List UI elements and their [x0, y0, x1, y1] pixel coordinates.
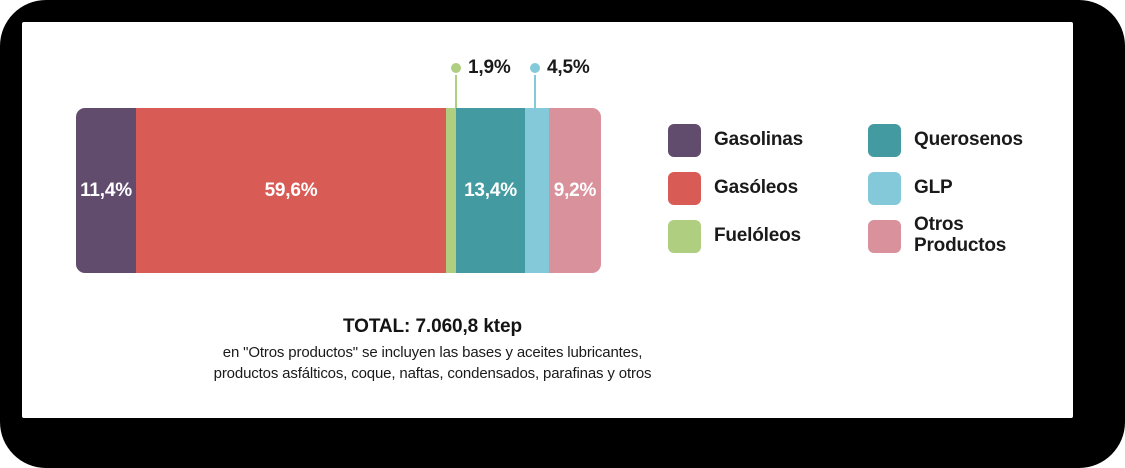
chart-footer: TOTAL: 7.060,8 ktep en "Otros productos"… [22, 316, 1073, 384]
bar-segment-label-querosenos: 13,4% [464, 180, 517, 202]
legend-label-fueloleos: Fuelóleos [714, 226, 801, 247]
legend-swatch-otros-productos [868, 220, 901, 253]
total-label: TOTAL: 7.060,8 ktep [22, 316, 843, 338]
bar-segment-gasolinas[interactable]: 11,4% [76, 108, 136, 273]
callout-label-glp: 4,5% [547, 57, 590, 79]
legend-item-gasolinas[interactable]: Gasolinas [668, 116, 868, 164]
bar-segment-glp[interactable] [525, 108, 549, 273]
legend-item-gasoleos[interactable]: Gasóleos [668, 164, 868, 212]
legend-swatch-gasolinas [668, 124, 701, 157]
bar-segment-label-gasolinas: 11,4% [80, 180, 132, 202]
legend-item-querosenos[interactable]: Querosenos [868, 116, 1038, 164]
legend-label-otros-productos: Otros Productos [914, 215, 1006, 256]
legend-swatch-fueloleos [668, 220, 701, 253]
legend-label-gasolinas: Gasolinas [714, 130, 803, 151]
legend-swatch-querosenos [868, 124, 901, 157]
legend-label-gasoleos: Gasóleos [714, 178, 798, 199]
legend-label-querosenos: Querosenos [914, 130, 1023, 151]
bar-segment-querosenos[interactable]: 13,4% [456, 108, 525, 273]
screenshot-frame: 1,9% 4,5% 11,4% 59,6% 13,4% 9,2% [0, 0, 1125, 468]
callout-label-fueloleos: 1,9% [468, 57, 511, 79]
callout-stem-glp [534, 75, 536, 109]
chart-legend: Gasolinas Querosenos Gasóleos GLP Fuelól… [668, 116, 1038, 260]
bar-segment-label-otros-productos: 9,2% [554, 180, 597, 202]
callout-dot-glp [530, 63, 540, 73]
callout-stem-fueloleos [455, 75, 457, 109]
footnote-line-1: en "Otros productos" se incluyen las bas… [22, 343, 843, 364]
legend-item-otros-productos[interactable]: Otros Productos [868, 212, 1038, 260]
legend-item-glp[interactable]: GLP [868, 164, 1038, 212]
bar-segment-label-gasoleos: 59,6% [265, 180, 318, 202]
footnote-line-2: productos asfálticos, coque, naftas, con… [22, 364, 843, 385]
footnote: en "Otros productos" se incluyen las bas… [22, 343, 843, 384]
bar-segment-gasoleos[interactable]: 59,6% [136, 108, 446, 273]
callout-dot-fueloleos [451, 63, 461, 73]
legend-item-fueloleos[interactable]: Fuelóleos [668, 212, 868, 260]
chart-canvas: 1,9% 4,5% 11,4% 59,6% 13,4% 9,2% [22, 22, 1073, 418]
stacked-bar: 11,4% 59,6% 13,4% 9,2% [76, 108, 601, 273]
legend-swatch-glp [868, 172, 901, 205]
legend-label-glp: GLP [914, 178, 952, 199]
bar-segment-otros-productos[interactable]: 9,2% [549, 108, 601, 273]
bar-segment-fueloleos[interactable] [446, 108, 456, 273]
legend-swatch-gasoleos [668, 172, 701, 205]
